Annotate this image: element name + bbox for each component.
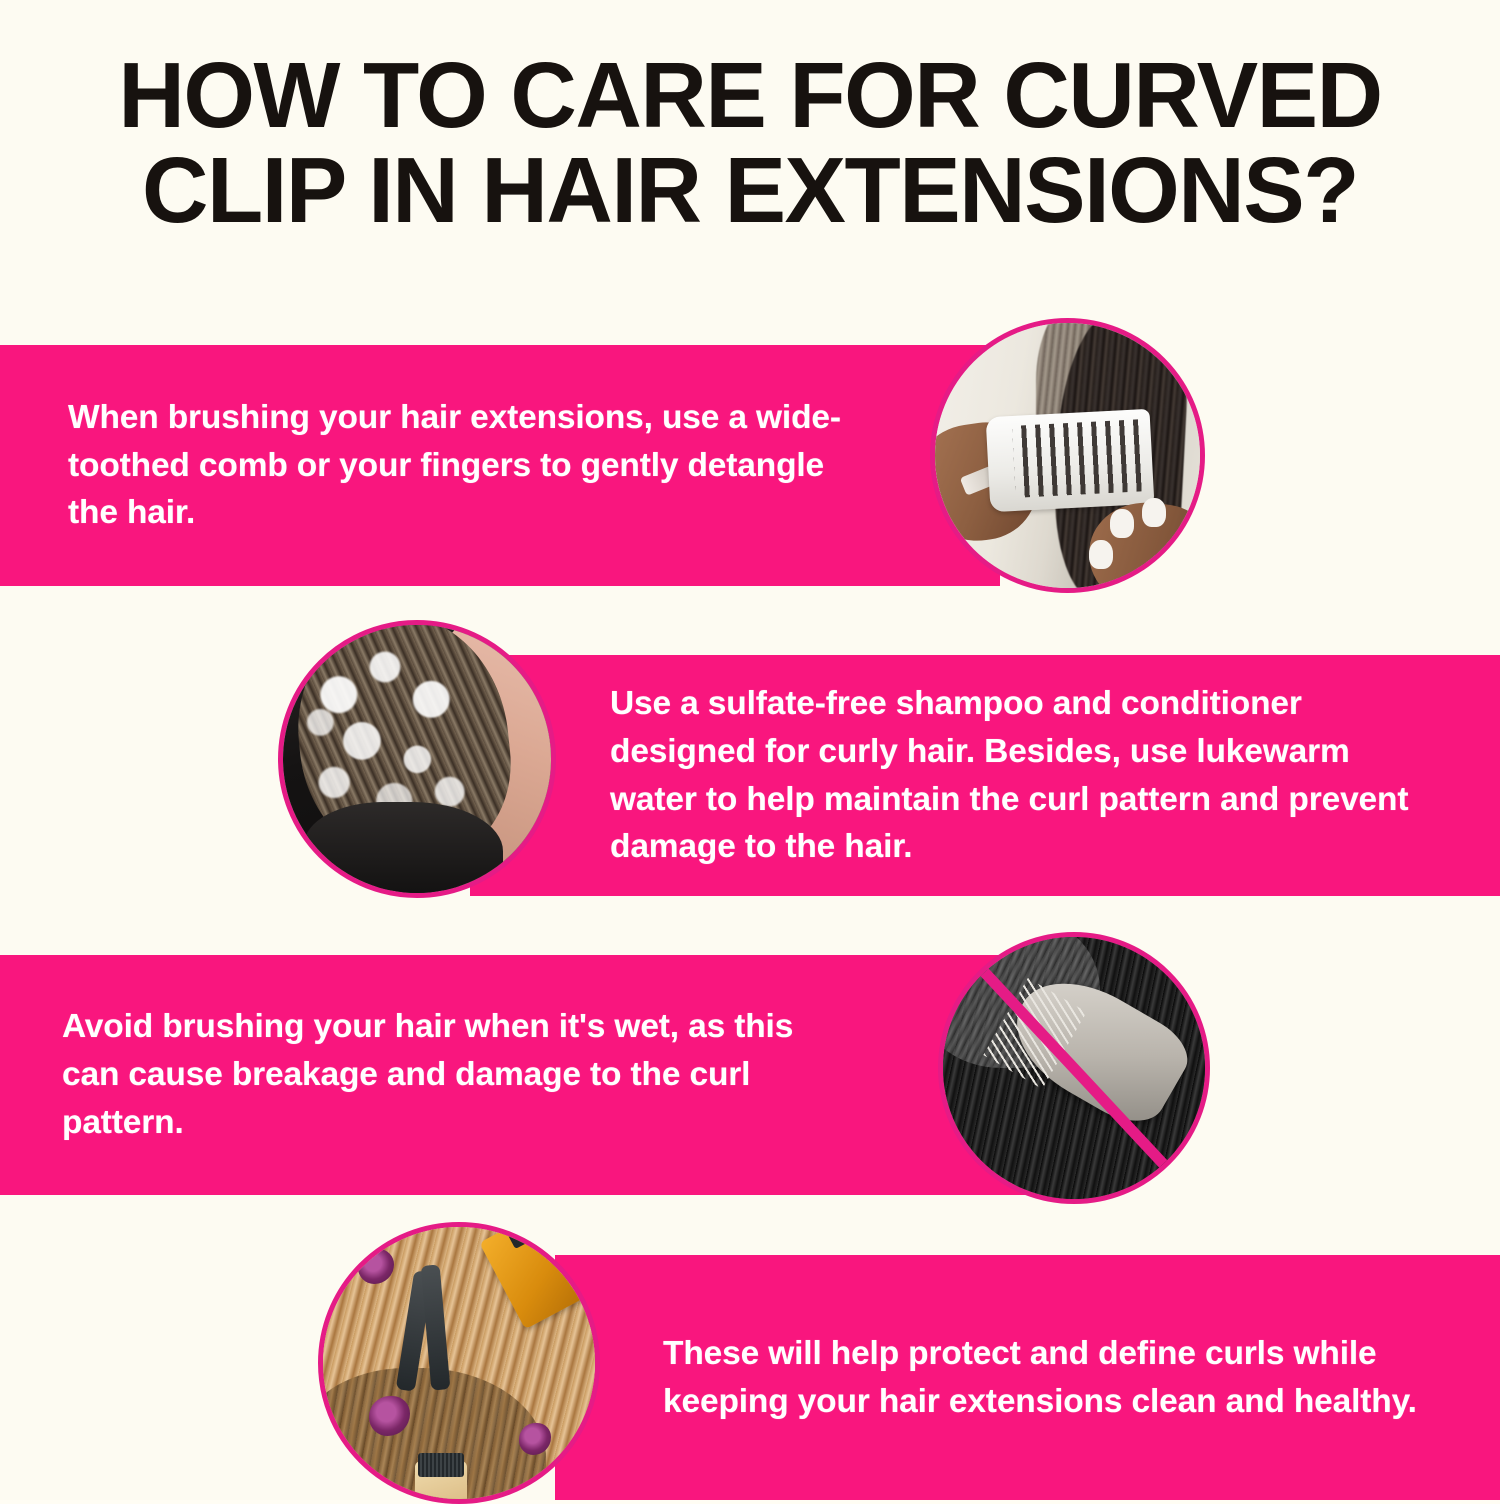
- photo-1-nail-a: [1110, 509, 1134, 538]
- tip-band-2: Use a sulfate-free shampoo and condition…: [470, 655, 1500, 896]
- photo-2-content: [283, 625, 551, 893]
- serum-bottle-cap-icon: [418, 1453, 464, 1477]
- tip-text-2: Use a sulfate-free shampoo and condition…: [470, 680, 1500, 872]
- blonde-hair-with-clips-oils-and-flowers-photo: [318, 1222, 600, 1504]
- photo-2-shadow: [304, 802, 502, 898]
- photo-3-content: [943, 937, 1205, 1199]
- tip-band-1: When brushing your hair extensions, use …: [0, 345, 1000, 586]
- tip-band-4: These will help protect and define curls…: [555, 1255, 1500, 1500]
- title-block: HOW TO CARE FOR CURVED CLIP IN HAIR EXTE…: [0, 48, 1500, 238]
- tip-text-3: Avoid brushing your hair when it's wet, …: [0, 1003, 1100, 1147]
- wide-tooth-comb-icon: [986, 409, 1155, 513]
- hands-with-white-wide-tooth-comb-photo: [930, 318, 1205, 593]
- photo-4-content: [323, 1227, 595, 1499]
- hair-being-shampooed-with-lather-photo: [278, 620, 556, 898]
- comb-teeth: [1012, 419, 1147, 498]
- photo-1-nail-c: [1089, 540, 1113, 569]
- photo-1-nail-b: [1142, 498, 1166, 527]
- page-title: HOW TO CARE FOR CURVED CLIP IN HAIR EXTE…: [67, 48, 1433, 238]
- tip-band-3: Avoid brushing your hair when it's wet, …: [0, 955, 1100, 1195]
- brush-on-wet-dark-hair-crossed-out-photo: [938, 932, 1210, 1204]
- tip-text-1: When brushing your hair extensions, use …: [0, 394, 1000, 538]
- tip-text-4: These will help protect and define curls…: [555, 1330, 1500, 1426]
- photo-1-content: [935, 323, 1200, 588]
